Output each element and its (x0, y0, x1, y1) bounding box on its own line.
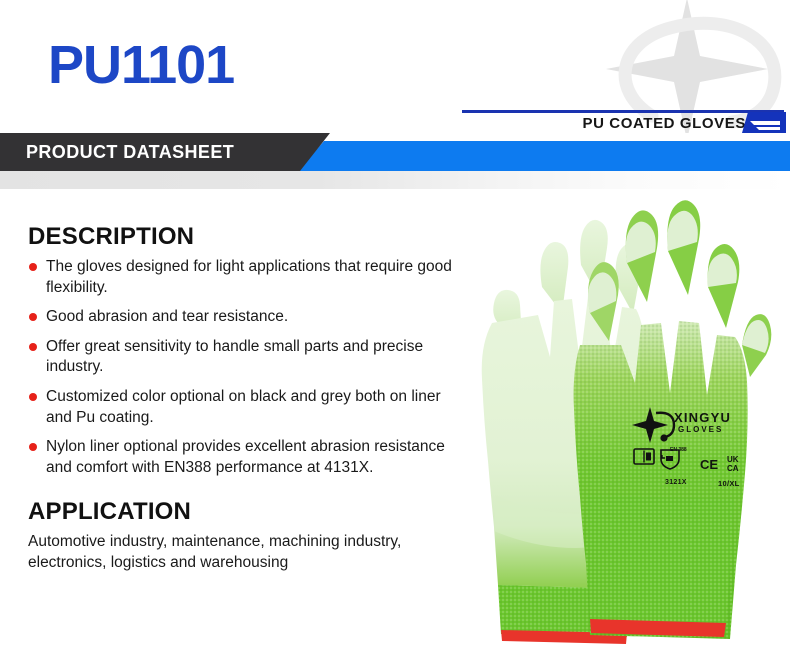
list-item-text: Customized color optional on black and g… (46, 388, 441, 426)
description-heading: DESCRIPTION (28, 223, 468, 251)
banner-blue-bar (298, 141, 790, 171)
bullet-icon (29, 393, 37, 401)
banner-band: PRODUCT DATASHEET (0, 133, 790, 171)
application-heading: APPLICATION (28, 498, 468, 526)
application-text: Automotive industry, maintenance, machin… (28, 532, 458, 573)
list-item-text: Nylon liner optional provides excellent … (46, 438, 445, 476)
glove-back-view (574, 200, 772, 639)
bullet-icon (29, 263, 37, 271)
product-code-title: PU1101 (48, 38, 234, 92)
blue-chevron-badge-icon (740, 112, 786, 133)
bullet-icon (29, 313, 37, 321)
list-item: The gloves designed for light applicatio… (28, 257, 468, 298)
bullet-icon (29, 443, 37, 451)
banner-title: PRODUCT DATASHEET (26, 142, 234, 163)
list-item-text: Offer great sensitivity to handle small … (46, 338, 423, 376)
list-item: Good abrasion and tear resistance. (28, 307, 468, 328)
text-column: DESCRIPTION The gloves designed for ligh… (28, 223, 468, 574)
product-image: XINGYU GLOVES EN 388 3121X CE UK CA 10/X… (430, 195, 790, 657)
brand-label: PU COATED GLOVES (582, 115, 746, 132)
list-item-text: The gloves designed for light applicatio… (46, 258, 452, 296)
page-content: XINGYU GLOVES EN 388 3121X CE UK CA 10/X… (0, 189, 790, 659)
list-item: Customized color optional on black and g… (28, 387, 468, 428)
datasheet-page: PU1101 PU COATED GLOVES PRODUCT DATASHEE… (0, 0, 790, 659)
banner-grey-strip (0, 171, 790, 189)
bullet-icon (29, 343, 37, 351)
list-item-text: Good abrasion and tear resistance. (46, 308, 288, 325)
description-list: The gloves designed for light applicatio… (28, 257, 468, 478)
brand-rule-divider (462, 110, 784, 113)
list-item: Nylon liner optional provides excellent … (28, 437, 468, 478)
page-header: PU1101 PU COATED GLOVES (0, 0, 790, 133)
list-item: Offer great sensitivity to handle small … (28, 337, 468, 378)
